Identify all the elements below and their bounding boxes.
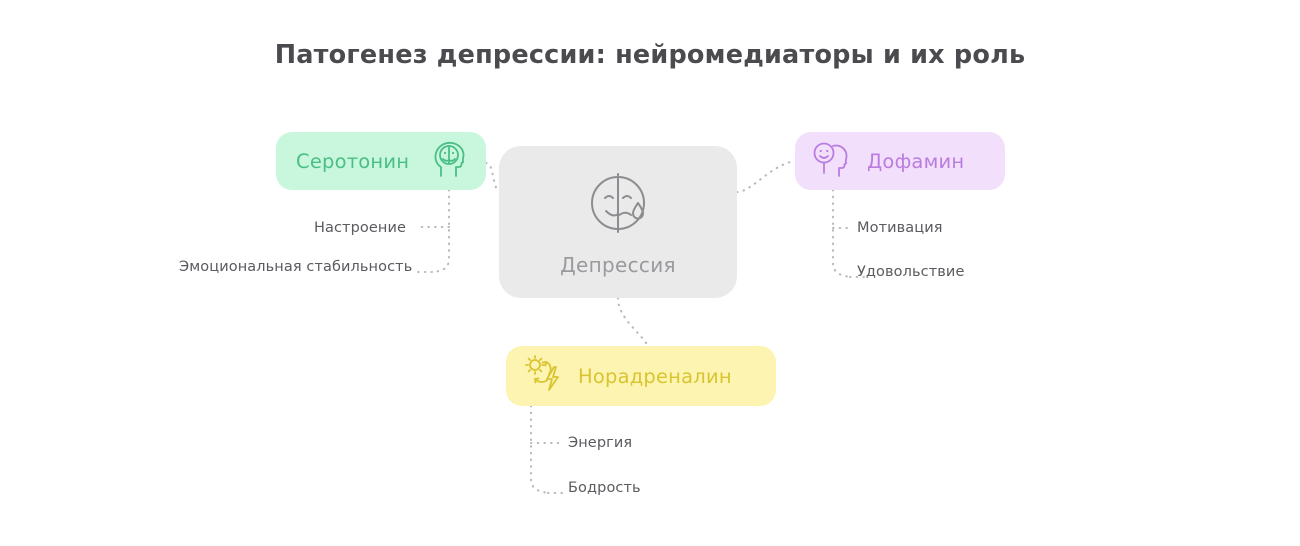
sub-label-pleasure: Удовольствие [857,264,1017,280]
node-dopamine-label: Дофамин [867,150,964,173]
smiley-head-profile-icon [811,140,853,182]
split-face-sad-happy-icon [582,167,654,243]
connector-serotonin-to-center [486,163,499,192]
connector-noradrenaline-spine [531,406,548,493]
node-depression[interactable]: Депрессия [499,146,737,298]
diagram-canvas: Патогенез депрессии: нейромедиаторы и их… [0,0,1300,546]
sub-label-emotional-stability: Эмоциональная стабильность [179,259,406,275]
sub-label-energy: Энергия [568,435,688,451]
node-serotonin-label: Серотонин [296,150,409,173]
connector-dopamine-spine [833,190,850,277]
node-depression-label: Депрессия [560,253,676,277]
connector-center-to-dopamine [737,161,795,192]
sun-lightning-energy-icon [522,353,566,399]
connector-serotonin-spine [432,190,449,272]
node-dopamine[interactable]: Дофамин [795,132,1005,190]
node-serotonin[interactable]: Серотонин [276,132,486,190]
node-noradrenaline[interactable]: Норадреналин [506,346,776,406]
head-with-face-circle-icon [432,140,468,182]
sub-label-mood: Настроение [310,220,406,236]
sub-label-vigor: Бодрость [568,480,688,496]
node-noradrenaline-label: Норадреналин [578,365,732,388]
connector-center-to-noradrenaline [618,298,648,346]
page-title: Патогенез депрессии: нейромедиаторы и их… [0,40,1300,70]
sub-label-motivation: Мотивация [857,220,997,236]
